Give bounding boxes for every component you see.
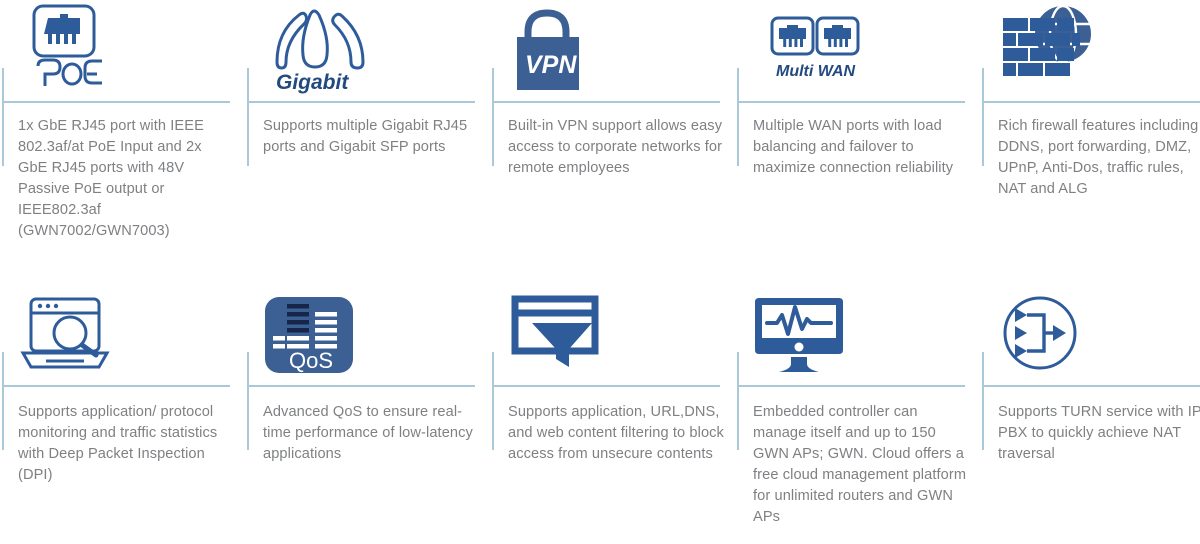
feature-description: Supports application, URL,DNS, and web c… xyxy=(508,402,724,465)
vpn-padlock-icon: VPN xyxy=(508,2,668,100)
divider-horizontal xyxy=(737,385,965,387)
feature-description: Multiple WAN ports with load balancing a… xyxy=(753,116,969,179)
divider-vertical xyxy=(247,68,249,166)
feature-description: Embedded controller can manage itself an… xyxy=(753,402,969,528)
gigabit-icon-label: Gigabit xyxy=(276,71,349,94)
divider-horizontal xyxy=(492,101,720,103)
divider-horizontal xyxy=(982,101,1200,103)
feature-description: Supports TURN service with IP PBX to qui… xyxy=(998,402,1200,465)
divider-horizontal xyxy=(2,385,230,387)
divider-vertical xyxy=(737,352,739,450)
multi-wan-icon-label: Multi WAN xyxy=(776,63,856,80)
divider-horizontal xyxy=(492,385,720,387)
divider-horizontal xyxy=(982,385,1200,387)
divider-vertical xyxy=(2,352,4,450)
feature-description: Rich firewall features including DDNS, p… xyxy=(998,116,1200,200)
feature-description: Supports multiple Gigabit RJ45 ports and… xyxy=(263,116,479,158)
divider-vertical xyxy=(982,352,984,450)
feature-description: Supports application/ protocol monitorin… xyxy=(18,402,234,486)
gigabit-speed-icon: Gigabit xyxy=(263,2,423,100)
feature-description: 1x GbE RJ45 port with IEEE 802.3af/at Po… xyxy=(18,116,234,242)
divider-horizontal xyxy=(2,101,230,103)
laptop-magnifier-dpi-icon xyxy=(18,286,178,384)
feature-description: Built-in VPN support allows easy access … xyxy=(508,116,724,179)
divider-vertical xyxy=(247,352,249,450)
browser-funnel-filter-icon xyxy=(508,286,668,384)
poe-rj45-icon xyxy=(18,2,178,100)
qos-icon-label: QoS xyxy=(289,348,333,373)
feature-grid: 1x GbE RJ45 port with IEEE 802.3af/at Po… xyxy=(0,0,1200,544)
monitor-pulse-controller-icon xyxy=(753,286,913,384)
divider-vertical xyxy=(2,68,4,166)
divider-horizontal xyxy=(737,101,965,103)
qos-equalizer-icon: QoS xyxy=(263,286,423,384)
divider-vertical xyxy=(982,68,984,166)
vpn-icon-label: VPN xyxy=(525,51,577,79)
multi-wan-ports-icon: Multi WAN xyxy=(753,2,913,100)
feature-description: Advanced QoS to ensure real-time perform… xyxy=(263,402,479,465)
divider-vertical xyxy=(737,68,739,166)
turn-nat-traversal-icon xyxy=(998,286,1158,384)
firewall-brickwall-globe-icon xyxy=(998,2,1158,100)
divider-vertical xyxy=(492,352,494,450)
divider-horizontal xyxy=(247,101,475,103)
divider-horizontal xyxy=(247,385,475,387)
divider-vertical xyxy=(492,68,494,166)
